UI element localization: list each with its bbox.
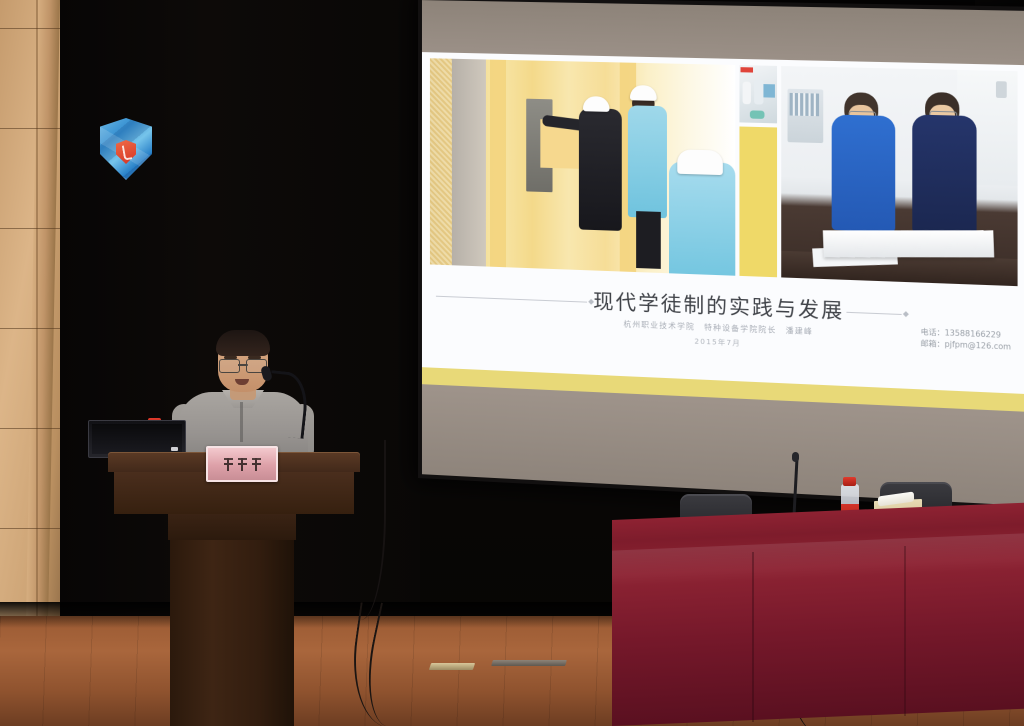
photo-lab-monitor — [763, 84, 774, 98]
laboratory-photo — [739, 65, 777, 123]
wall-seam — [0, 128, 60, 129]
presenter-hair — [216, 330, 270, 356]
screen-surface: 现代学徒制的实践与发展 杭州职业技术学院 特种设备学院院长 潘建峰 2015年7… — [422, 0, 1024, 506]
head-table — [612, 520, 1024, 726]
photo-person-right — [912, 114, 976, 234]
bottle-cap — [843, 477, 856, 486]
wall-corner-line — [36, 0, 38, 700]
table-cloth-fold — [752, 552, 754, 722]
slide-text-block: 现代学徒制的实践与发展 杭州职业技术学院 特种设备学院院长 潘建峰 2015年7… — [422, 268, 1024, 374]
photo-lab-equipment — [750, 110, 765, 119]
nameplate-glyph — [238, 458, 247, 471]
speaker-podium — [108, 452, 360, 726]
photo-instructor — [579, 108, 622, 231]
hard-hat-icon — [630, 85, 657, 101]
photo-student-two — [669, 161, 735, 275]
email-value: pjfpm@126.com — [945, 340, 1012, 352]
eyeglasses-icon — [219, 359, 267, 371]
document-study-photo — [781, 66, 1017, 286]
wall-seam — [0, 428, 60, 429]
photo-student-one — [628, 105, 667, 218]
school-crest-icon — [100, 118, 152, 180]
wood-wall-panel — [0, 0, 60, 700]
glasses-lens — [219, 359, 240, 373]
hard-hat-icon — [677, 149, 723, 175]
slide-photo-row — [430, 58, 1018, 286]
wall-seam — [0, 328, 60, 329]
speaker-nameplate — [206, 446, 278, 482]
photo-lab-person — [754, 80, 763, 105]
photo-grey-column — [452, 59, 486, 267]
projection-screen: 现代学徒制的实践与发展 杭州职业技术学院 特种设备学院院长 潘建峰 2015年7… — [418, 0, 1024, 510]
laptop-logo — [171, 447, 178, 451]
podium-neck — [168, 514, 296, 540]
photo-red-sign — [741, 67, 754, 72]
photo-person-left — [832, 114, 896, 231]
slide-photo-column — [739, 65, 777, 277]
email-label: 邮箱 — [921, 339, 937, 349]
photo-wall-device — [996, 81, 1007, 98]
nameplate-glyph — [252, 458, 261, 471]
slide-contact-block: 电话：13588166229 邮箱：pjfpm@126.com — [921, 326, 1012, 353]
presentation-photo-scene: 现代学徒制的实践与发展 杭州职业技术学院 特种设备学院院长 潘建峰 2015年7… — [0, 0, 1024, 726]
workshop-training-photo — [430, 58, 735, 275]
laptop-screen — [92, 424, 182, 454]
table-cloth-fold — [904, 546, 906, 716]
photo-lab-person — [743, 82, 751, 105]
podium-column — [170, 540, 294, 726]
photo-mesh-panel — [430, 58, 452, 265]
presentation-slide: 现代学徒制的实践与发展 杭州职业技术学院 特种设备学院院长 潘建峰 2015年7… — [422, 52, 1024, 412]
microphone-head-icon — [792, 452, 799, 462]
phone-label: 电话 — [921, 327, 937, 337]
wall-seam — [0, 528, 60, 529]
hard-hat-icon — [583, 96, 610, 112]
floor-outlet-plate — [429, 663, 475, 670]
wall-seam — [0, 228, 60, 229]
photo-drawings — [823, 230, 994, 257]
slide-yellow-block — [739, 126, 777, 277]
photo-student-legs — [636, 211, 661, 269]
photo-binders — [790, 93, 819, 116]
photo-yellow-column — [490, 60, 506, 268]
wall-seam — [0, 28, 60, 29]
floor-cable-cover — [491, 660, 567, 666]
presenter-placket — [240, 402, 243, 442]
nameplate-glyph — [224, 458, 233, 471]
